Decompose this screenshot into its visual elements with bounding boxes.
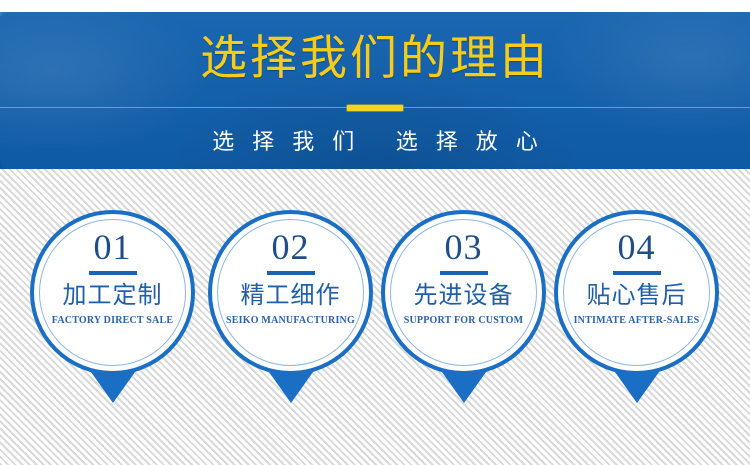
badge-item[interactable]: 02 精工细作 SEIKO MANUFACTURING — [208, 210, 373, 410]
title-divider — [0, 105, 750, 110]
page-subtitle: 选择我们 选择放心 — [0, 126, 750, 158]
badge-number: 03 — [445, 228, 483, 266]
badge-cn-label: 加工定制 — [63, 281, 163, 311]
divider-accent-nub — [347, 105, 403, 111]
promo-banner: 选择我们的理由 选择我们 选择放心 01 加工定制 FACTORY DIRECT… — [0, 0, 750, 465]
badge-number-underline — [613, 271, 661, 275]
badge-en-label: INTIMATE AFTER-SALES — [574, 314, 700, 329]
badge-content: 04 贴心售后 INTIMATE AFTER-SALES — [554, 210, 719, 375]
badge-content: 01 加工定制 FACTORY DIRECT SALE — [30, 210, 195, 375]
header-band: 选择我们的理由 选择我们 选择放心 — [0, 12, 750, 169]
badge-number: 02 — [272, 228, 310, 266]
badge-number-underline — [89, 271, 137, 275]
badge-en-label: SUPPORT FOR CUSTOM — [404, 314, 524, 329]
badge-en-label: SEIKO MANUFACTURING — [226, 314, 355, 329]
badge-item[interactable]: 01 加工定制 FACTORY DIRECT SALE — [30, 210, 195, 410]
badge-en-label: FACTORY DIRECT SALE — [52, 314, 173, 329]
badge-cn-label: 先进设备 — [414, 281, 514, 311]
badge-number: 04 — [618, 228, 656, 266]
badge-cn-label: 精工细作 — [241, 281, 341, 311]
page-title: 选择我们的理由 — [0, 30, 750, 88]
badge-cn-label: 贴心售后 — [587, 281, 687, 311]
badge-item[interactable]: 04 贴心售后 INTIMATE AFTER-SALES — [554, 210, 719, 410]
badge-content: 03 先进设备 SUPPORT FOR CUSTOM — [381, 210, 546, 375]
badge-item[interactable]: 03 先进设备 SUPPORT FOR CUSTOM — [381, 210, 546, 410]
badge-number-underline — [440, 271, 488, 275]
badge-number: 01 — [94, 228, 132, 266]
badge-row: 01 加工定制 FACTORY DIRECT SALE 02 精工细作 SEIK… — [0, 169, 750, 465]
header-content: 选择我们的理由 选择我们 选择放心 — [0, 12, 750, 169]
badge-content: 02 精工细作 SEIKO MANUFACTURING — [208, 210, 373, 375]
badge-number-underline — [267, 271, 315, 275]
